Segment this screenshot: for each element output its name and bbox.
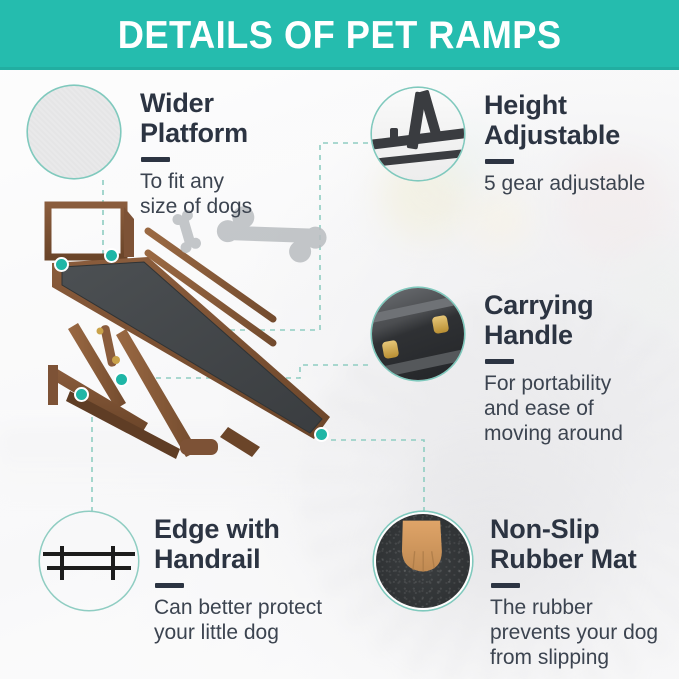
- feature-title: Non-Slip Rubber Mat: [490, 514, 658, 574]
- title-divider: [155, 583, 184, 588]
- title-divider: [491, 583, 520, 588]
- feature-title: Edge with Handrail: [154, 514, 322, 574]
- feature-height-adjustable[interactable]: Height Adjustable 5 gear adjustable: [372, 88, 645, 196]
- feature-description: For portability and ease of moving aroun…: [484, 371, 623, 446]
- title-divider: [485, 359, 514, 364]
- dog-paw-icon: [396, 514, 447, 588]
- header-banner: DETAILS OF PET RAMPS: [0, 0, 679, 70]
- handle-closeup-art: [372, 288, 464, 380]
- title-divider: [485, 159, 514, 164]
- feature-non-slip-rubber-mat[interactable]: Non-Slip Rubber Mat The rubber prevents …: [374, 512, 658, 670]
- marker-dot-handle: [114, 372, 129, 387]
- feature-thumbnail-non-slip-mat: [374, 512, 472, 610]
- frame-edge: [372, 290, 464, 324]
- strap-bracket: [431, 314, 449, 334]
- product-image-pet-ramp: [30, 195, 370, 480]
- feature-description: The rubber prevents your dog from slippi…: [490, 595, 658, 670]
- feature-thumbnail-edge-handrail: [40, 512, 138, 610]
- feature-thumbnail-carrying-handle: [372, 288, 464, 380]
- title-divider: [141, 157, 170, 162]
- feature-thumbnail-height-adjustable: [372, 88, 464, 180]
- feature-description: To fit any size of dogs: [140, 169, 252, 219]
- height-hardware-art: [372, 88, 464, 180]
- infographic-canvas: DETAILS OF PET RAMPS: [0, 0, 679, 679]
- metal-notch: [390, 128, 397, 145]
- feature-description: Can better protect your little dog: [154, 595, 322, 645]
- strap-bracket: [382, 340, 400, 360]
- feature-edge-with-handrail[interactable]: Edge with Handrail Can better protect yo…: [40, 512, 322, 645]
- feature-thumbnail-wider-platform: [28, 86, 120, 178]
- page-title: DETAILS OF PET RAMPS: [118, 16, 562, 55]
- feature-title: Carrying Handle: [484, 290, 623, 350]
- feature-carrying-handle[interactable]: Carrying Handle For portability and ease…: [372, 288, 623, 446]
- handrail-icon: [40, 512, 138, 610]
- mat-texture-overlay: [28, 86, 120, 178]
- feature-description: 5 gear adjustable: [484, 171, 645, 196]
- marker-dot-mat: [314, 427, 329, 442]
- marker-dot-platform: [104, 248, 119, 263]
- feature-title: Wider Platform: [140, 88, 252, 148]
- feature-wider-platform[interactable]: Wider Platform To fit any size of dogs: [28, 86, 252, 219]
- marker-dot-edge: [54, 257, 69, 272]
- feature-title: Height Adjustable: [484, 90, 645, 150]
- marker-dot-height: [74, 387, 89, 402]
- metal-bar: [372, 149, 464, 168]
